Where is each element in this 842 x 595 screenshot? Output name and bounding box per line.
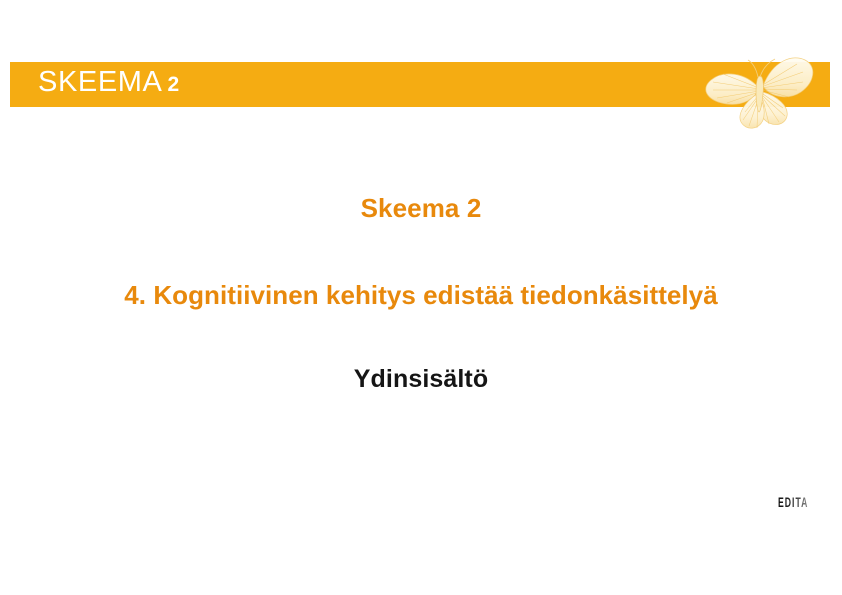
slide-canvas: SKEEMA 2 xyxy=(0,0,842,595)
chapter-heading: 4. Kognitiivinen kehitys edistää tiedonk… xyxy=(0,280,842,311)
publisher-logo: EDITA xyxy=(778,493,822,510)
title-block: Skeema 2 4. Kognitiivinen kehitys edistä… xyxy=(0,0,842,595)
page-title: Skeema 2 xyxy=(0,193,842,224)
subtitle: Ydinsisältö xyxy=(0,365,842,394)
publisher-logo-text: EDITA xyxy=(778,495,808,509)
